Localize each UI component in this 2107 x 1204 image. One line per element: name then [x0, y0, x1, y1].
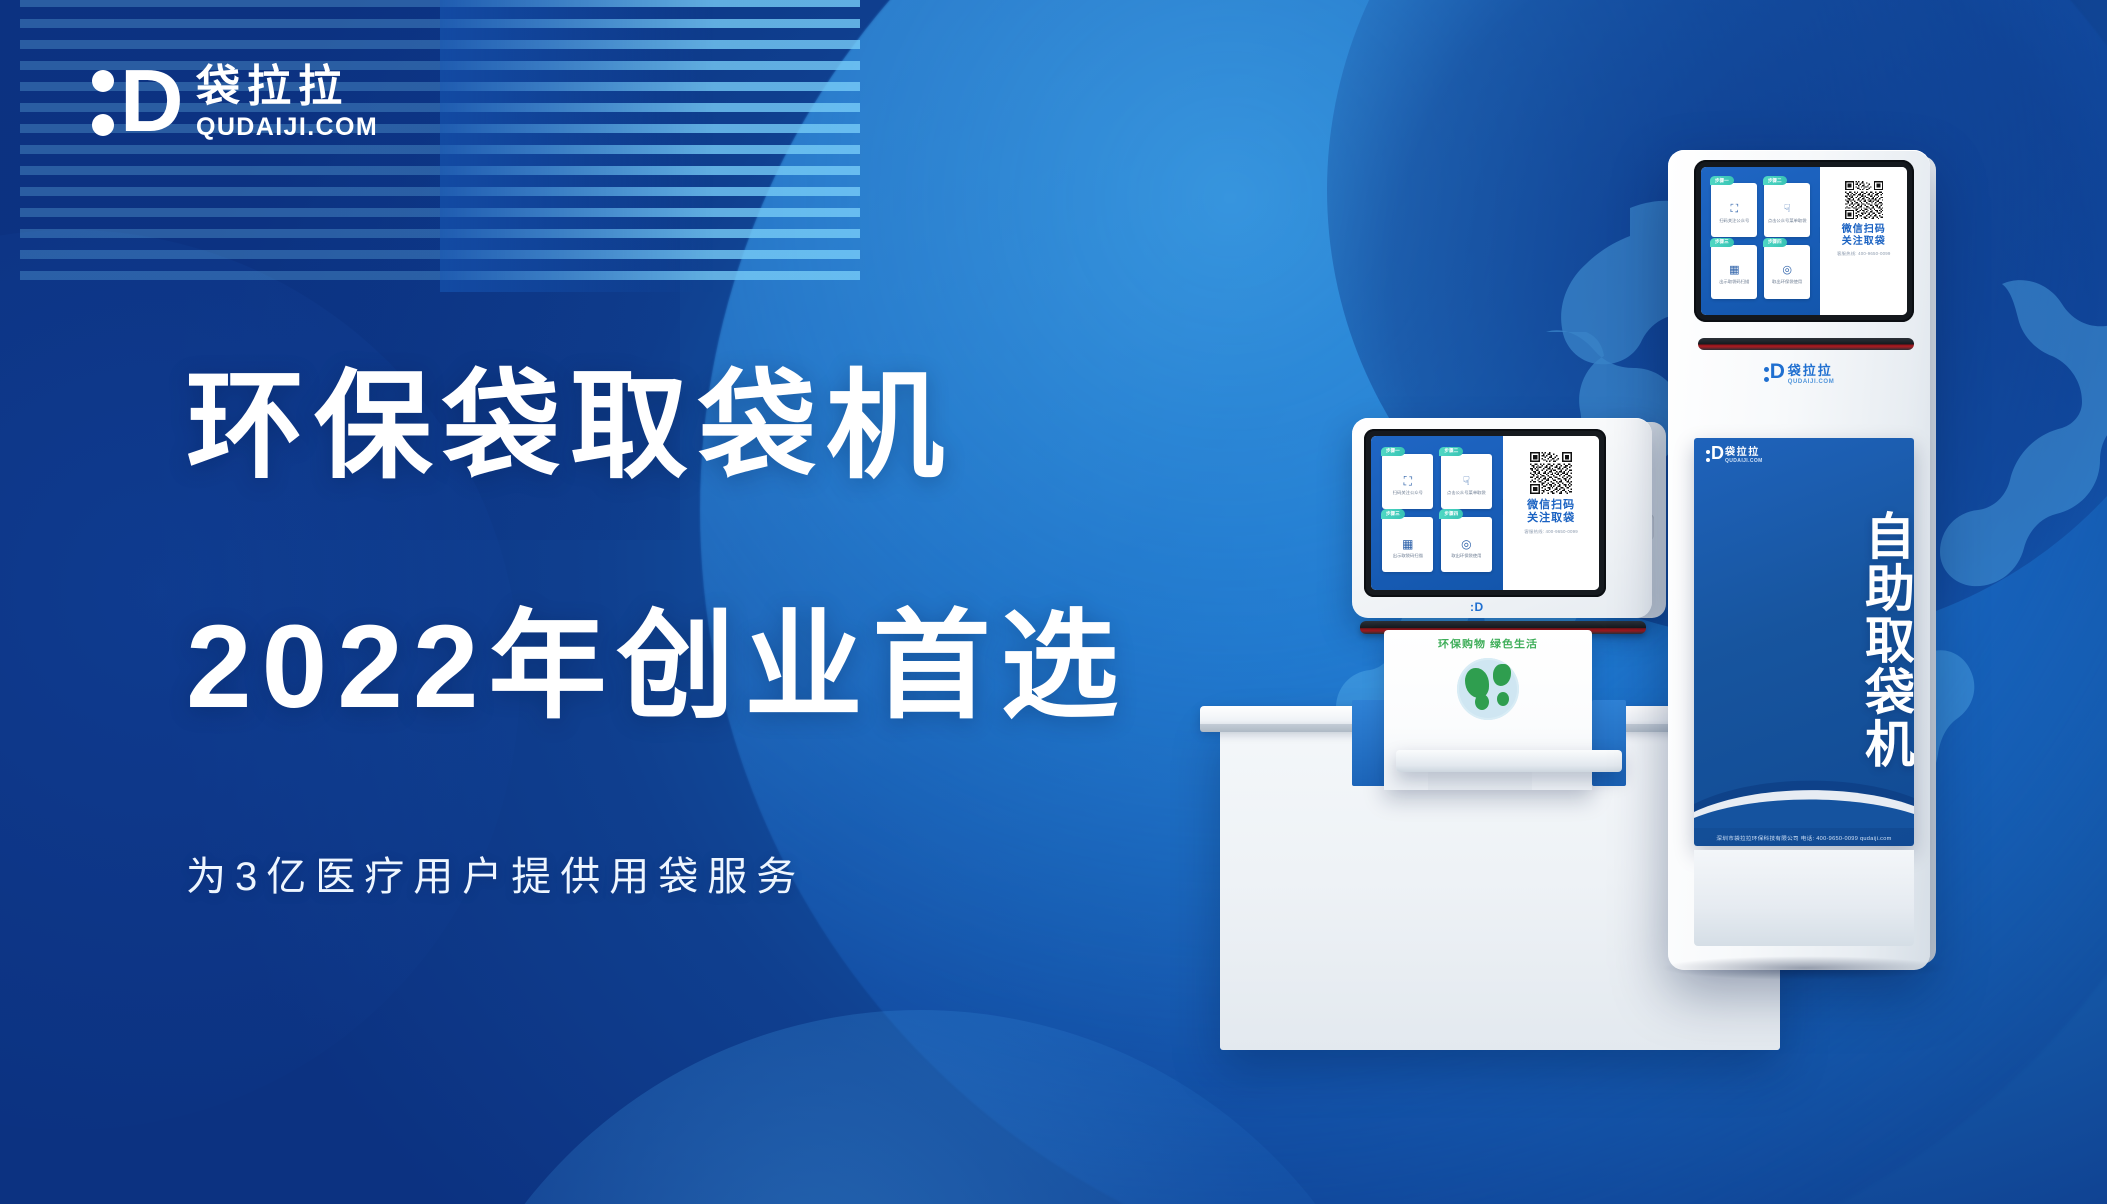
mini-machine-base [1396, 750, 1622, 772]
screen-cta-line1: 微信扫码 [1842, 224, 1886, 236]
bag-stack-left [1352, 700, 1386, 786]
floor-standing-bag-kiosk: 步骤一 ⛶ 扫码关注公众号 步骤二 ☟ 点击公众号菜单取袋 [1650, 150, 1950, 970]
step-caption: 取出环保袋使用 [1772, 279, 1802, 284]
mini-machine-brand-mark-icon: :D [1470, 600, 1484, 614]
poster-logo-cn: 袋拉拉 [1725, 448, 1763, 458]
wechat-qr-code-icon[interactable] [1845, 181, 1883, 219]
screen-hotline: 客服热线: 400-9650-0099 [1837, 251, 1891, 257]
earth-globe-icon [1457, 658, 1519, 720]
step-tag: 步骤二 [1763, 176, 1787, 185]
qr-code-icon: ▦ [1402, 538, 1413, 550]
screen-steps-panel: 步骤一 ⛶ 扫码关注公众号 步骤二 ☟ 点击公众号菜单取袋 [1701, 167, 1820, 315]
tap-hand-icon: ☟ [1463, 475, 1470, 487]
check-circle-icon: ◎ [1461, 538, 1471, 550]
poster-footer-text: 深圳市袋拉拉环保科技有限公司 电话: 400-9650-0099 qudaiji… [1694, 834, 1914, 842]
screen-cta-line2: 关注取袋 [1842, 236, 1886, 248]
page-title: 环保袋取袋机 [186, 368, 1226, 486]
hero-copy: 环保袋取袋机 2022年创业首选 为3亿医疗用户提供用袋服务 [186, 368, 1226, 902]
screen-cta-line1: 微信扫码 [1527, 499, 1575, 512]
kiosk-lower-body [1694, 850, 1914, 946]
hero-tagline: 为3亿医疗用户提供用袋服务 [186, 844, 1226, 902]
poster-vertical-title: 自助取袋机 [1694, 490, 1914, 790]
poster-wave-decoration [1694, 758, 1914, 828]
bag-stack-right [1592, 700, 1626, 786]
screen-qr-panel: 微信扫码 关注取袋 客服热线: 400-9650-0099 [1503, 436, 1599, 590]
mini-machine-display[interactable]: 步骤一 ⛶ 扫码关注公众号 步骤二 ☟ 点击公众号菜单取袋 [1364, 429, 1606, 597]
screen-cta-line2: 关注取袋 [1527, 512, 1575, 525]
step-tag: 步骤四 [1763, 238, 1787, 247]
step-tag: 步骤三 [1710, 238, 1734, 247]
scan-code-icon: ⛶ [1730, 204, 1738, 215]
step-card[interactable]: 步骤四 ◎ 取出环保袋使用 [1441, 517, 1492, 572]
mini-machine-body: 步骤一 ⛶ 扫码关注公众号 步骤二 ☟ 点击公众号菜单取袋 [1352, 418, 1652, 618]
kiosk-display[interactable]: 步骤一 ⛶ 扫码关注公众号 步骤二 ☟ 点击公众号菜单取袋 [1694, 160, 1914, 322]
step-caption: 出示取袋码扫描 [1393, 553, 1423, 558]
screen-steps-panel: 步骤一 ⛶ 扫码关注公众号 步骤二 ☟ 点击公众号菜单取袋 [1371, 436, 1503, 590]
kiosk-logo-en: QUDAIJI.COM [1788, 379, 1835, 385]
step-card[interactable]: 步骤一 ⛶ 扫码关注公众号 [1711, 183, 1757, 237]
kiosk-logo-cn: 袋拉拉 [1788, 364, 1835, 377]
striped-disc-fade [440, 0, 860, 292]
colon-d-logo-icon: D [92, 60, 174, 146]
step-tag: 步骤一 [1381, 447, 1405, 456]
kiosk-dispense-slot [1698, 338, 1914, 350]
screen-qr-panel: 微信扫码 关注取袋 客服热线: 400-9650-0099 [1820, 167, 1907, 315]
qr-code-icon: ▦ [1729, 265, 1739, 276]
product-photo: 步骤一 ⛶ 扫码关注公众号 步骤二 ☟ 点击公众号菜单取袋 [1180, 150, 2080, 1020]
eco-bag-slogan: 环保购物 绿色生活 [1384, 637, 1592, 652]
step-tag: 步骤四 [1439, 509, 1463, 518]
brand-logo-text: 袋拉拉 QUDAIJI.COM [196, 64, 378, 143]
step-card[interactable]: 步骤二 ☟ 点击公众号菜单取袋 [1764, 183, 1810, 237]
step-tag: 步骤三 [1381, 509, 1405, 518]
kiosk-body-logo: D 袋拉拉 QUDAIJI.COM [1668, 364, 1930, 385]
screen-cta-text: 微信扫码 关注取袋 [1842, 224, 1886, 248]
tap-hand-icon: ☟ [1784, 204, 1791, 215]
screen-cta-text: 微信扫码 关注取袋 [1527, 499, 1575, 525]
desktop-bag-dispenser: 步骤一 ⛶ 扫码关注公众号 步骤二 ☟ 点击公众号菜单取袋 [1352, 418, 1652, 748]
check-circle-icon: ◎ [1782, 265, 1792, 276]
step-card[interactable]: 步骤三 ▦ 出示取袋码扫描 [1711, 245, 1757, 299]
step-caption: 扫码关注公众号 [1719, 218, 1749, 223]
colon-d-logo-icon: D [1764, 365, 1781, 384]
kiosk-ground-shadow [1660, 956, 1950, 980]
scan-code-icon: ⛶ [1404, 475, 1412, 487]
brand-name-cn: 袋拉拉 [196, 64, 378, 111]
step-tag: 步骤二 [1439, 447, 1463, 456]
step-card[interactable]: 步骤四 ◎ 取出环保袋使用 [1764, 245, 1810, 299]
brand-logo[interactable]: D 袋拉拉 QUDAIJI.COM [92, 60, 378, 146]
step-card[interactable]: 步骤三 ▦ 出示取袋码扫描 [1382, 517, 1433, 572]
page-subtitle-headline: 2022年创业首选 [186, 608, 1226, 726]
step-caption: 扫码关注公众号 [1393, 490, 1423, 495]
step-caption: 点击公众号菜单取袋 [1768, 218, 1807, 223]
step-tag: 步骤一 [1710, 176, 1734, 185]
kiosk-blue-poster-panel: D 袋拉拉 QUDAIJI.COM 自助取袋机 [1694, 438, 1914, 846]
kiosk-body: 步骤一 ⛶ 扫码关注公众号 步骤二 ☟ 点击公众号菜单取袋 [1668, 150, 1930, 970]
step-caption: 出示取袋码扫描 [1719, 279, 1749, 284]
colon-d-logo-icon: D [1706, 448, 1720, 464]
brand-name-en: QUDAIJI.COM [196, 113, 378, 142]
striped-half-disc-mirror-icon [20, 0, 440, 292]
step-card[interactable]: 步骤一 ⛶ 扫码关注公众号 [1382, 454, 1433, 509]
poster-logo: D 袋拉拉 QUDAIJI.COM [1706, 448, 1763, 464]
step-caption: 点击公众号菜单取袋 [1447, 490, 1486, 495]
step-caption: 取出环保袋使用 [1451, 553, 1481, 558]
wechat-qr-code-icon[interactable] [1530, 452, 1572, 494]
step-card[interactable]: 步骤二 ☟ 点击公众号菜单取袋 [1441, 454, 1492, 509]
screen-hotline: 客服热线: 400-9650-0099 [1524, 529, 1578, 535]
hero-banner: D 袋拉拉 QUDAIJI.COM 环保袋取袋机 2022年创业首选 为3亿医疗… [0, 0, 2107, 1204]
poster-logo-en: QUDAIJI.COM [1725, 459, 1763, 464]
